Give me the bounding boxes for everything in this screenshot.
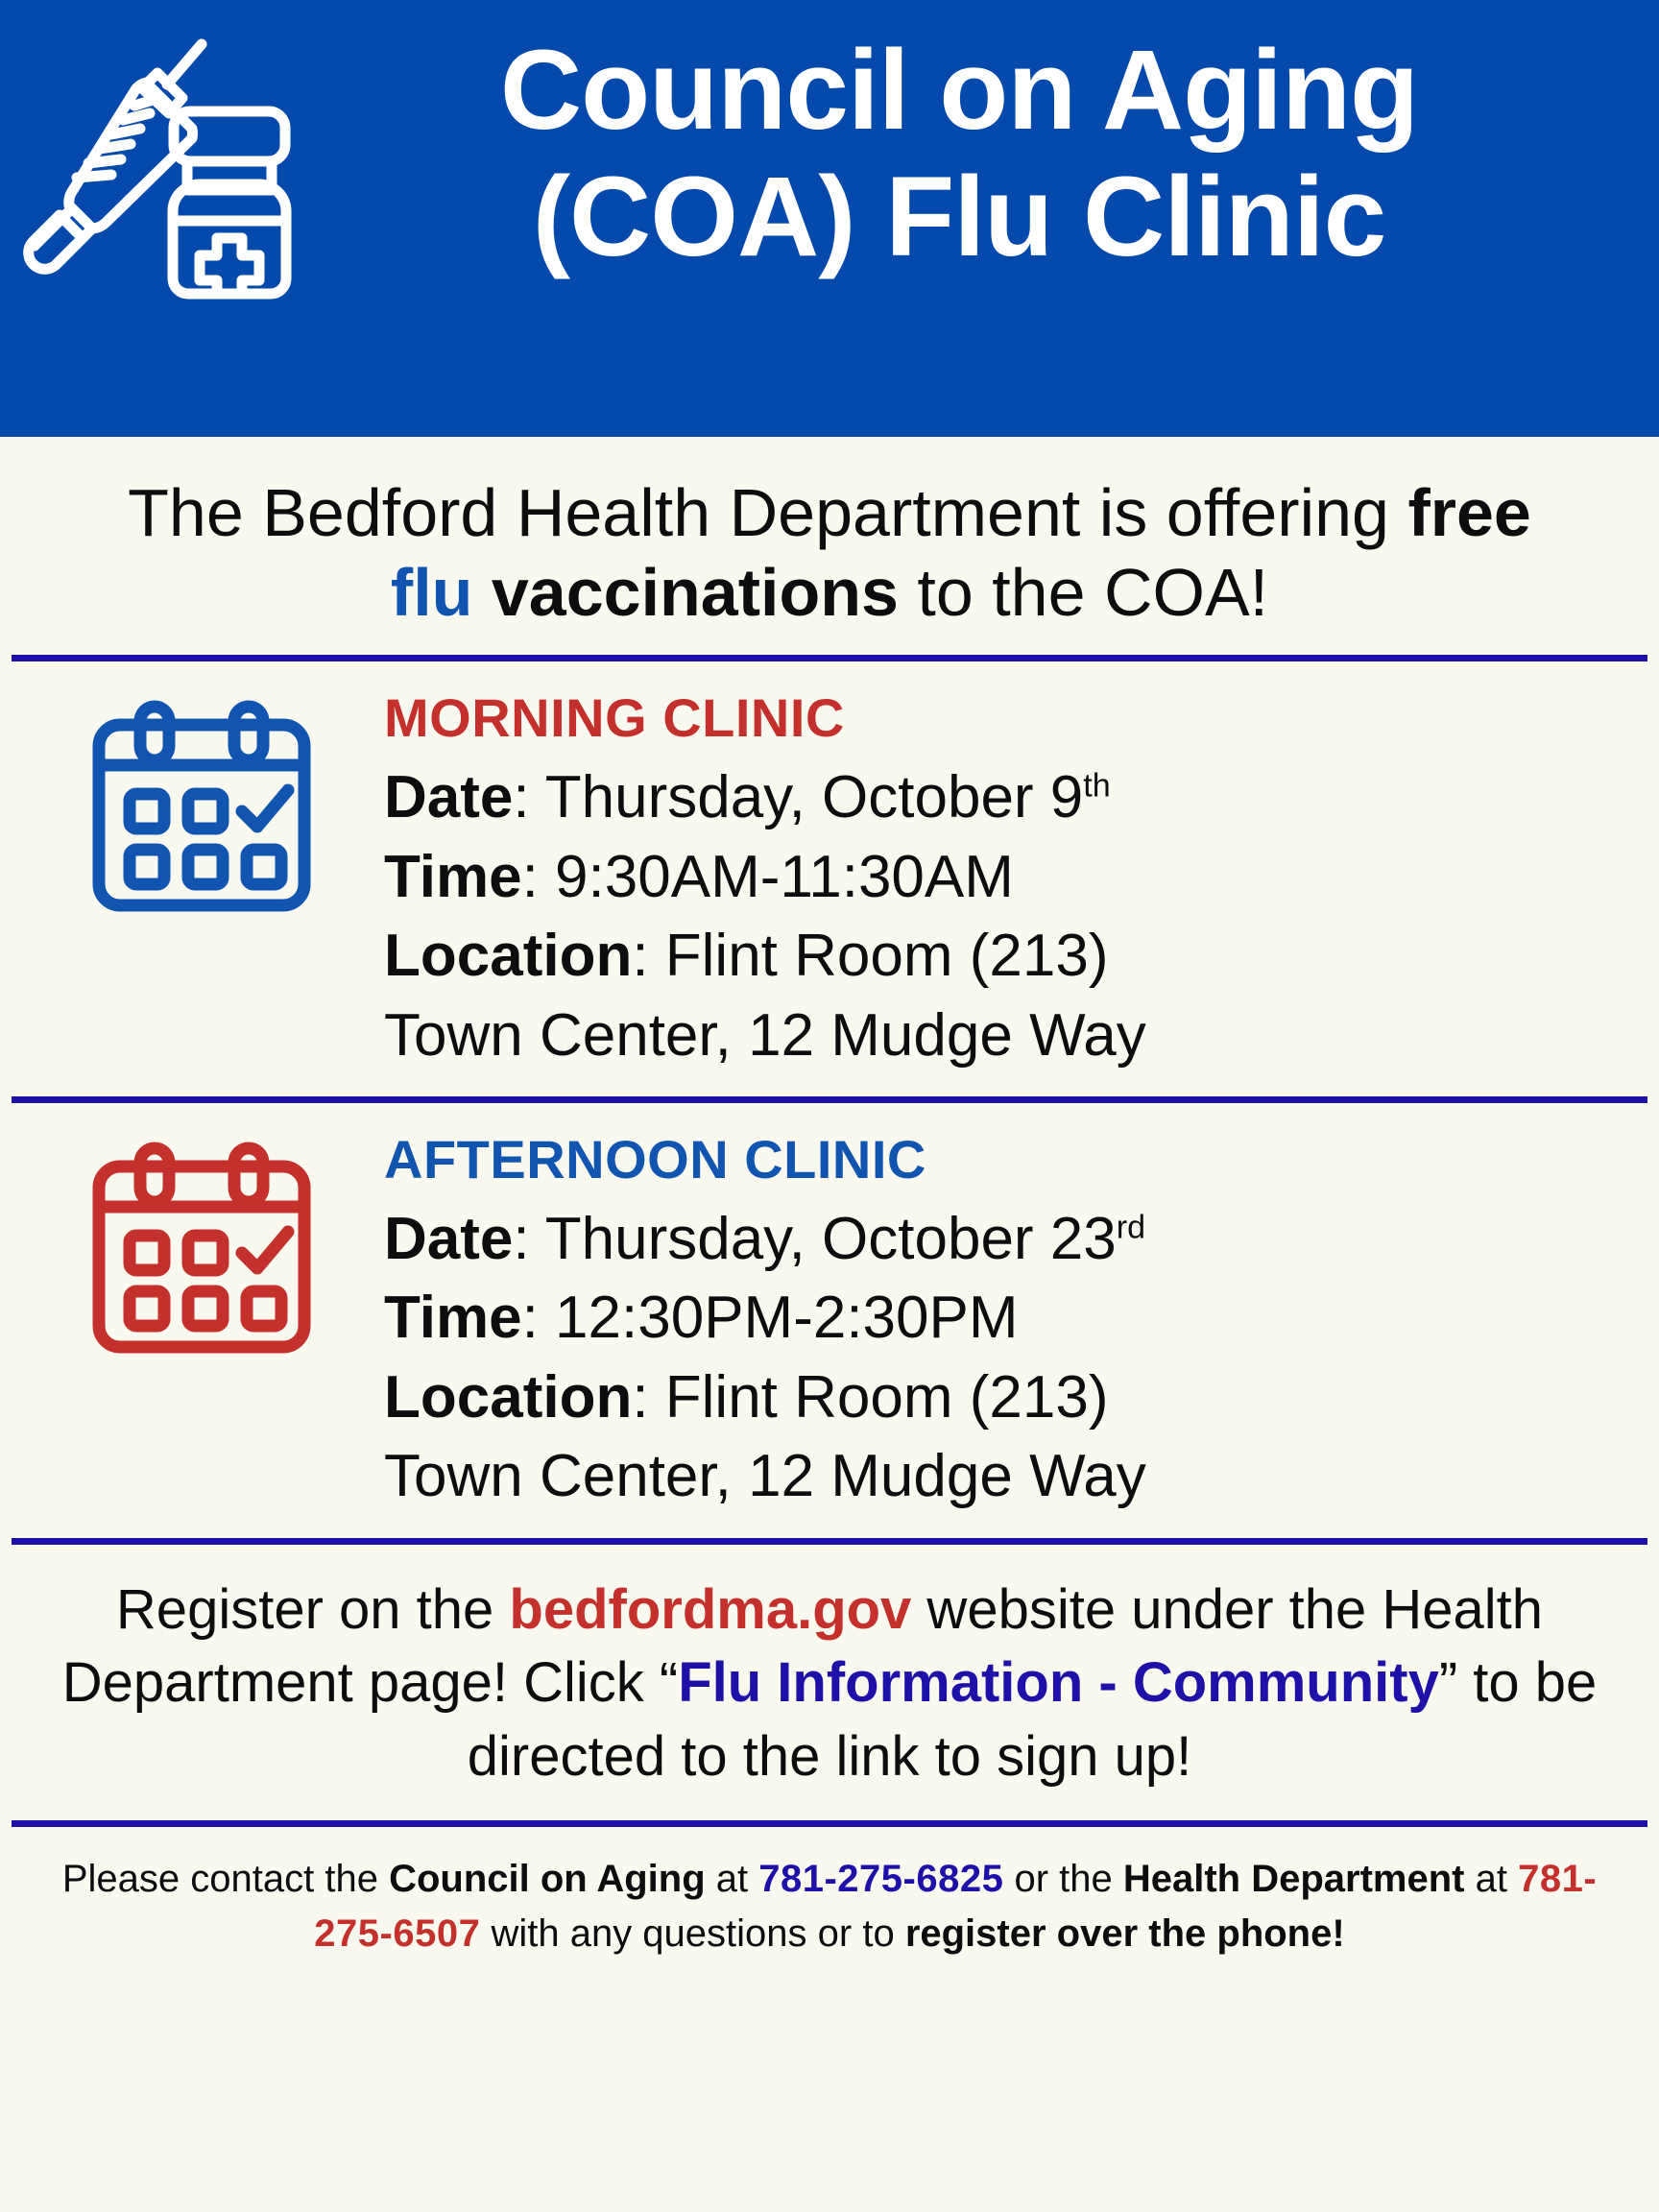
divider-between-clinics [12,1096,1647,1103]
footer-text-b: at [706,1858,759,1900]
website-name[interactable]: bedfordma.gov [509,1578,911,1641]
intro-text-part1: The Bedford Health Department is offerin… [128,475,1407,550]
afternoon-clinic-time-row: Time: 12:30PM-2:30PM [384,1279,1630,1358]
afternoon-clinic-address: Town Center, 12 Mudge Way [384,1437,1630,1516]
afternoon-location-label: Location [384,1364,632,1431]
health-department-label: Health Department [1123,1858,1465,1900]
register-text-a: Register on the [116,1578,509,1641]
afternoon-clinic-location-row: Location: Flint Room (213) [384,1358,1630,1437]
afternoon-date-suffix: rd [1117,1209,1145,1245]
divider-above-register [12,1538,1647,1545]
morning-clinic-date-row: Date: Thursday, October 9th [384,758,1630,837]
calendar-check-icon [29,686,374,921]
flyer-header: Council on Aging (COA) Flu Clinic [0,0,1659,437]
flu-information-link-name[interactable]: Flu Information - Community [678,1651,1439,1714]
header-title-block: Council on Aging (COA) Flu Clinic [317,27,1601,280]
morning-time-value: 9:30AM-11:30AM [555,844,1014,910]
registration-instructions: Register on the bedfordma.gov website un… [0,1545,1659,1821]
register-over-phone-label: register over the phone! [905,1912,1345,1955]
morning-clinic-details: MORNING CLINIC Date: Thursday, October 9… [374,686,1630,1075]
morning-location-value: Flint Room (213) [665,923,1109,989]
morning-location-label: Location [384,923,632,989]
morning-clinic-location-row: Location: Flint Room (213) [384,917,1630,996]
intro-bold-vaccinations: vaccinations [492,555,899,630]
intro-bold-free: free [1407,475,1530,550]
afternoon-clinic-details: AFTERNOON CLINIC Date: Thursday, October… [374,1128,1630,1517]
page-title-line1: Council on Aging [317,27,1601,154]
footer-text-e: with any questions or to [480,1912,904,1955]
divider-above-morning-clinic [12,655,1647,661]
coa-phone-number[interactable]: 781-275-6825 [758,1858,1003,1900]
morning-date-suffix: th [1083,768,1110,805]
council-on-aging-label: Council on Aging [389,1858,706,1900]
syringe-and-vaccine-vial-icon [13,23,301,301]
divider-above-footer [12,1820,1647,1827]
afternoon-clinic-heading: AFTERNOON CLINIC [384,1128,1630,1190]
morning-clinic-section: MORNING CLINIC Date: Thursday, October 9… [0,661,1659,1096]
flu-clinic-flyer: Council on Aging (COA) Flu Clinic The Be… [0,0,1659,2212]
morning-time-label: Time [384,844,522,910]
morning-date-label: Date [384,764,513,830]
afternoon-date-value: Thursday, October 23 [545,1206,1117,1272]
intro-bold-flu: flu [391,555,492,630]
contact-footer: Please contact the Council on Aging at 7… [0,1827,1659,1981]
afternoon-clinic-date-row: Date: Thursday, October 23rd [384,1200,1630,1279]
intro-text-part2: to the COA! [899,555,1268,630]
morning-date-value: Thursday, October 9 [545,764,1084,830]
footer-text-a: Please contact the [62,1858,389,1900]
afternoon-clinic-section: AFTERNOON CLINIC Date: Thursday, October… [0,1103,1659,1538]
afternoon-time-value: 12:30PM-2:30PM [555,1285,1018,1351]
morning-clinic-heading: MORNING CLINIC [384,686,1630,749]
footer-text-c: or the [1003,1858,1123,1900]
intro-statement: The Bedford Health Department is offerin… [0,437,1659,641]
calendar-check-icon [29,1128,374,1362]
page-title-line2: (COA) Flu Clinic [317,154,1601,280]
afternoon-time-label: Time [384,1285,522,1351]
afternoon-date-label: Date [384,1206,513,1272]
morning-clinic-time-row: Time: 9:30AM-11:30AM [384,838,1630,917]
footer-text-d: at [1464,1858,1518,1900]
morning-clinic-address: Town Center, 12 Mudge Way [384,997,1630,1075]
afternoon-location-value: Flint Room (213) [665,1364,1109,1431]
